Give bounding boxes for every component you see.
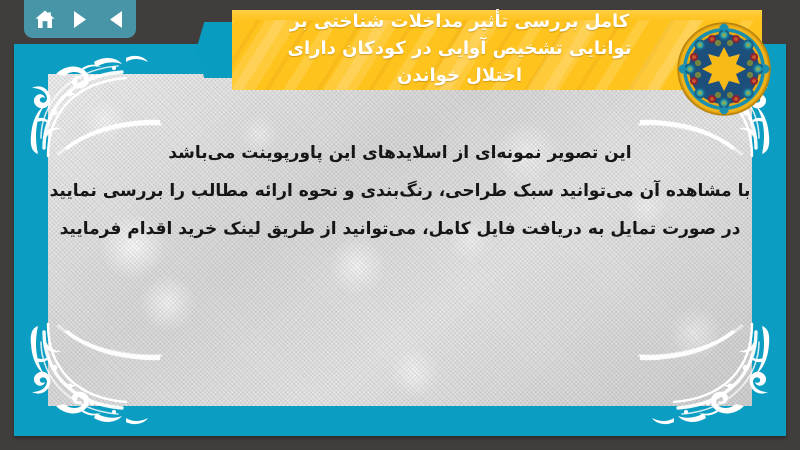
navigation-bar bbox=[24, 0, 136, 38]
home-button[interactable] bbox=[34, 7, 56, 31]
back-button[interactable] bbox=[104, 7, 126, 31]
triangle-left-icon bbox=[107, 10, 124, 29]
background-texture bbox=[48, 74, 752, 406]
slide-content-area bbox=[48, 74, 752, 406]
banner-top-highlight bbox=[232, 10, 762, 20]
home-icon bbox=[34, 9, 56, 30]
persian-mandala-medallion-icon bbox=[676, 21, 772, 117]
slide-viewer: کامل بررسی تأثیر مداخلات شناختی بر توانا… bbox=[0, 0, 800, 450]
forward-button[interactable] bbox=[69, 7, 91, 31]
slide-frame: این تصویر نمونه‌ای از اسلایدهای این پاور… bbox=[14, 44, 786, 436]
triangle-right-icon bbox=[72, 10, 89, 29]
